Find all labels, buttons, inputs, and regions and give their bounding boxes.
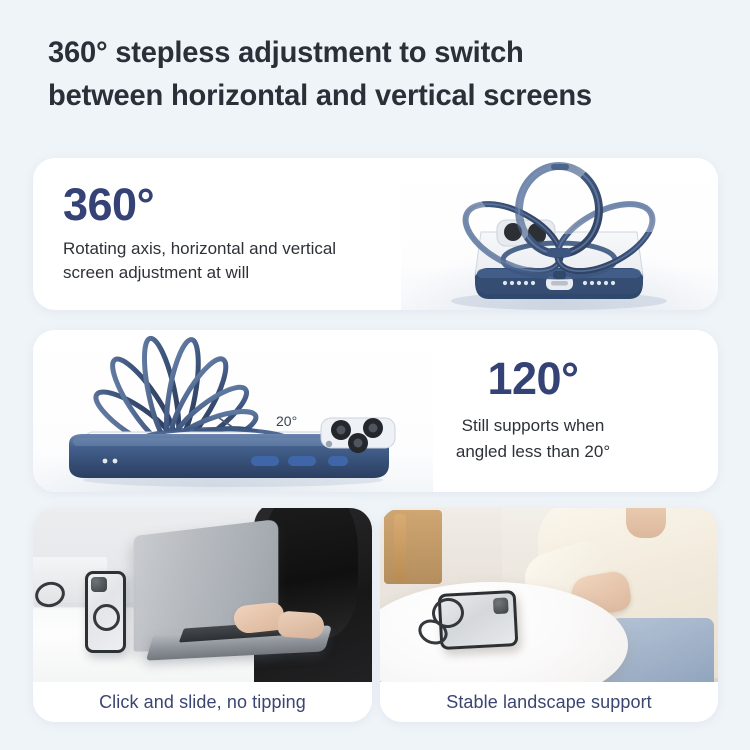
lifestyle-card-laptop: Click and slide, no tipping	[33, 508, 372, 722]
angle-value: 120°	[378, 356, 688, 401]
action-button	[328, 456, 348, 466]
lifestyle-card-table: Stable landscape support	[380, 508, 718, 722]
rotation-text-block: 360° Rotating axis, horizontal and verti…	[63, 182, 393, 285]
page-title-line-2: between horizontal and vertical screens	[48, 75, 688, 118]
photo-phone-ring	[93, 604, 120, 631]
charging-port-slot	[551, 281, 568, 286]
lifestyle-caption-table: Stable landscape support	[380, 682, 718, 722]
volume-down-button	[288, 456, 316, 466]
page-title-line-1: 360° stepless adjustment to switch	[48, 32, 688, 75]
lifestyle-caption-laptop: Click and slide, no tipping	[33, 682, 372, 722]
photo-phone-portrait	[85, 571, 126, 653]
photo-wooden-chair-leg	[394, 514, 406, 582]
angle-annotation-label: 20°	[276, 413, 297, 429]
lifestyle-photo-table	[380, 508, 718, 682]
feature-card-rotation: 360° Rotating axis, horizontal and verti…	[33, 158, 718, 310]
lidar-sensor	[326, 441, 332, 447]
angle-product-image: 20°	[33, 330, 433, 492]
volume-up-button	[251, 456, 279, 466]
lifestyle-photo-laptop	[33, 508, 372, 682]
rotation-description-line-1: Rotating axis, horizontal and vertical	[63, 237, 393, 261]
rotation-product-image	[401, 158, 718, 310]
feature-card-angle: 20°	[33, 330, 718, 492]
ring-foot	[547, 248, 571, 257]
rotation-description-line-2: screen adjustment at will	[63, 261, 393, 285]
photo-wooden-chair	[384, 510, 442, 584]
rotation-value: 360°	[63, 182, 393, 227]
angle-text-block: 120° Still supports when angled less tha…	[378, 356, 688, 464]
angle-description-line-2: angled less than 20°	[378, 439, 688, 465]
ring-notch-top	[551, 164, 569, 170]
page-title: 360° stepless adjustment to switch betwe…	[48, 32, 688, 117]
angle-description-line-1: Still supports when	[378, 413, 688, 439]
ring-hinge	[553, 271, 566, 279]
photo-person-neck	[626, 508, 666, 538]
photo-person-hand-right	[277, 610, 325, 639]
